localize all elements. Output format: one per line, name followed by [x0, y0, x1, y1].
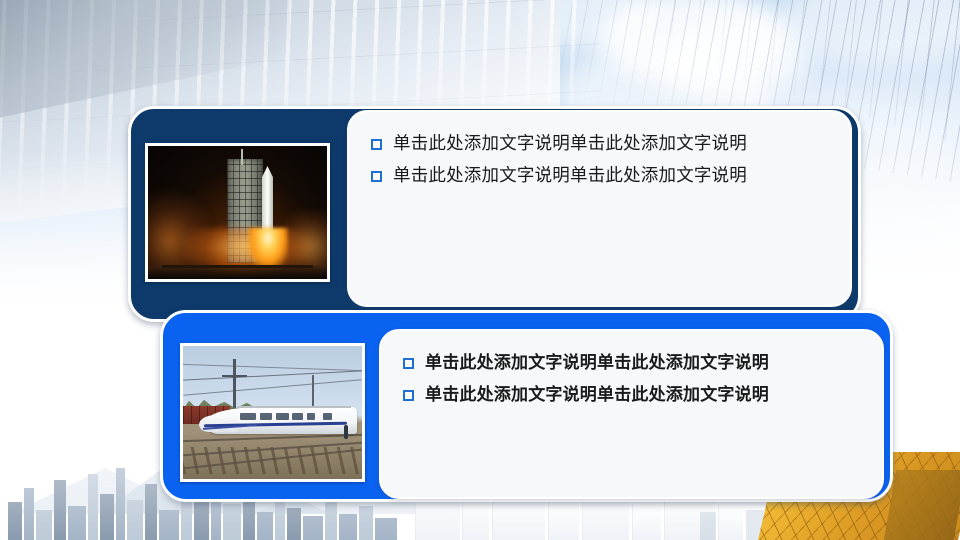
launch-pad-line	[162, 265, 312, 268]
catenary-wire	[183, 379, 361, 396]
trackside-person	[344, 425, 348, 439]
bullet-list-bottom: 单击此处添加文字说明单击此处添加文字说明 单击此处添加文字说明单击此处添加文字说…	[381, 331, 882, 408]
skyline-building	[100, 494, 114, 540]
bullet-text: 单击此处添加文字说明单击此处添加文字说明	[425, 351, 769, 376]
square-bullet-icon	[403, 390, 414, 401]
skyline-building	[88, 474, 98, 540]
skyline-building	[68, 506, 86, 540]
skyline-building	[359, 506, 373, 540]
catenary-wire	[183, 371, 362, 381]
skyline-building	[375, 518, 397, 540]
square-bullet-icon	[403, 358, 414, 369]
slide-canvas: 单击此处添加文字说明单击此处添加文字说明 单击此处添加文字说明单击此处添加文字说…	[0, 0, 960, 540]
skyline-building	[159, 510, 179, 540]
skyline-building	[116, 468, 125, 540]
train-window	[323, 413, 332, 420]
skyline-building	[700, 512, 716, 540]
square-bullet-icon	[371, 139, 382, 150]
bullet-item[interactable]: 单击此处添加文字说明单击此处添加文字说明	[403, 351, 866, 376]
skyline-building-pale	[548, 500, 579, 540]
bullet-text: 单击此处添加文字说明单击此处添加文字说明	[393, 132, 747, 157]
skyline-building	[339, 514, 357, 540]
bullet-list-top: 单击此处添加文字说明单击此处添加文字说明 单击此处添加文字说明单击此处添加文字说…	[349, 112, 850, 189]
train-window	[240, 413, 256, 420]
catenary-wire	[183, 364, 362, 371]
skyline-building	[145, 484, 157, 540]
skyline-building	[325, 502, 337, 540]
rocket-photo-scene	[148, 146, 327, 279]
train-window	[276, 413, 289, 420]
skyline-building	[194, 496, 209, 540]
text-panel-bottom[interactable]: 单击此处添加文字说明单击此处添加文字说明 单击此处添加文字说明单击此处添加文字说…	[379, 329, 884, 499]
skyline-building	[8, 502, 22, 540]
rocket-launch-photo[interactable]	[145, 143, 330, 282]
gantry-mast	[241, 149, 243, 165]
high-speed-train-photo[interactable]	[180, 343, 365, 482]
rocket-nose-cone	[262, 166, 274, 178]
skyline-building-pale	[718, 506, 743, 540]
skyline-building	[127, 500, 143, 540]
skyline-building	[223, 504, 241, 540]
square-bullet-icon	[371, 171, 382, 182]
train-photo-scene	[183, 346, 362, 479]
bullet-text: 单击此处添加文字说明单击此处添加文字说明	[425, 383, 769, 408]
bullet-item[interactable]: 单击此处添加文字说明单击此处添加文字说明	[371, 132, 834, 157]
golden-building-shadow-face	[884, 470, 960, 540]
skyline-building	[303, 516, 323, 540]
train-window	[292, 413, 303, 420]
rocket-flame	[248, 228, 287, 268]
skyline-building	[24, 488, 34, 540]
text-panel-top[interactable]: 单击此处添加文字说明单击此处添加文字说明 单击此处添加文字说明单击此处添加文字说…	[347, 110, 852, 307]
skyline-building	[287, 508, 301, 540]
bullet-item[interactable]: 单击此处添加文字说明单击此处添加文字说明	[371, 164, 834, 189]
skyline-building-pale	[632, 504, 661, 540]
train-roof-line	[237, 406, 352, 408]
skyline-building	[257, 512, 273, 540]
catenary-arm	[222, 375, 247, 377]
skyline-building-pale	[462, 496, 489, 540]
bullet-text: 单击此处添加文字说明单击此处添加文字说明	[393, 164, 747, 189]
skyline-building	[36, 510, 52, 540]
train-window	[307, 413, 316, 420]
skyline-building	[275, 498, 285, 540]
bullet-item[interactable]: 单击此处添加文字说明单击此处添加文字说明	[403, 383, 866, 408]
skyline-building	[54, 480, 66, 540]
train-window	[260, 413, 273, 420]
